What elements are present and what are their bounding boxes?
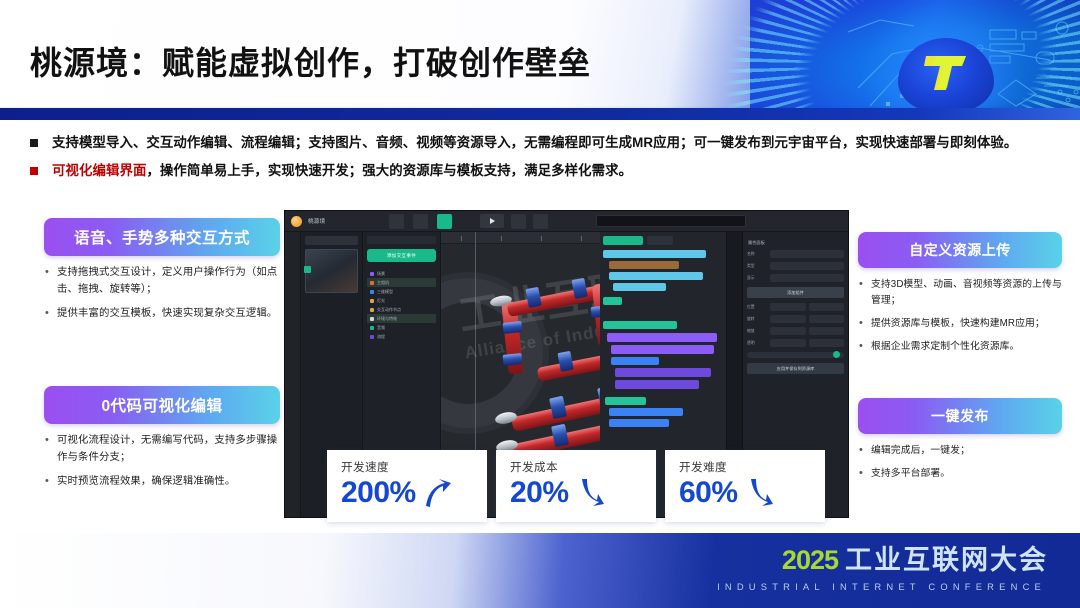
- callout-list-upload: 支持3D模型、动画、音视频等资源的上传与管理； 提供资源库与模板，快速构建MR应…: [858, 277, 1062, 354]
- toolbar-publish-button[interactable]: [511, 214, 526, 229]
- toolbar-tool-group[interactable]: [389, 214, 452, 229]
- outline-node[interactable]: 音频: [367, 323, 436, 332]
- callout-card-voice: 语音、手势多种交互方式 支持拖拽式交互设计，定义用户操作行为（如点击、拖拽、旋转…: [44, 218, 280, 330]
- callout-item: 支持多平台部署。: [858, 466, 1062, 482]
- script-block[interactable]: [609, 272, 703, 280]
- metric-value: 200%: [341, 476, 416, 510]
- property-row[interactable]: 旋转: [747, 315, 844, 323]
- property-row[interactable]: 透明: [747, 339, 844, 347]
- footer-year: 2025: [782, 545, 838, 576]
- slide-footer: 2025 工业互联网大会 INDUSTRIAL INTERNET CONFERE…: [0, 533, 1080, 608]
- script-block[interactable]: [603, 250, 706, 258]
- script-block[interactable]: [605, 397, 646, 405]
- callout-title-nocode: 0代码可视化编辑: [44, 386, 280, 424]
- page-title: 桃源境：赋能虚拟创作，打破创作壁垒: [30, 38, 591, 84]
- bullet-item-2: 可视化编辑界面，操作简单易上手，实现快速开发；强大的资源库与模板支持，满足多样化…: [30, 161, 1060, 180]
- callout-card-nocode: 0代码可视化编辑 可视化流程设计，无需编写代码，支持多步骤操作与条件分支； 实时…: [44, 386, 280, 498]
- script-block[interactable]: [613, 283, 666, 291]
- toolbar-settings-button[interactable]: [533, 214, 548, 229]
- conference-logo: 2025 工业互联网大会 INDUSTRIAL INTERNET CONFERE…: [717, 538, 1048, 592]
- slide: 桃源境：赋能虚拟创作，打破创作壁垒 支持模型导入、交互动作编辑、流程编辑；支持图…: [0, 0, 1080, 608]
- bullet-text-2: 可视化编辑界面，操作简单易上手，实现快速开发；强大的资源库与模板支持，满足多样化…: [52, 161, 632, 180]
- callout-item: 实时预览流程效果，确保逻辑准确性。: [44, 474, 280, 491]
- properties-panel-title: 属性面板: [748, 240, 844, 246]
- callout-item: 支持3D模型、动画、音视频等资源的上传与管理；: [858, 277, 1062, 309]
- script-block[interactable]: [611, 345, 714, 354]
- outline-node[interactable]: 场景: [367, 269, 436, 278]
- callout-list-nocode: 可视化流程设计，无需编写代码，支持多步骤操作与条件分支； 实时预览流程效果，确保…: [44, 433, 280, 491]
- property-row[interactable]: 显示: [747, 274, 844, 282]
- toolbar-preview-button[interactable]: [480, 214, 504, 228]
- bullet-highlight: 可视化编辑界面: [52, 163, 146, 178]
- callout-item: 提供资源库与模板，快速构建MR应用；: [858, 316, 1062, 332]
- toolbar-play-group[interactable]: [480, 214, 548, 229]
- arrow-down-curved-icon: [575, 477, 605, 509]
- opacity-slider[interactable]: [747, 352, 844, 358]
- app-window-title: 桃源境: [308, 217, 325, 225]
- app-logo-icon: [291, 216, 302, 227]
- script-block[interactable]: [603, 297, 622, 305]
- editor-search-input[interactable]: [596, 215, 746, 227]
- script-block[interactable]: [615, 368, 711, 377]
- callout-list-voice: 支持拖拽式交互设计，定义用户操作行为（如点击、拖拽、旋转等）； 提供丰富的交互模…: [44, 265, 280, 323]
- bullet-item-1: 支持模型导入、交互动作编辑、流程编辑；支持图片、音频、视频等资源导入，无需编程即…: [30, 133, 1060, 152]
- script-block[interactable]: [609, 408, 683, 416]
- add-component-button[interactable]: 添加组件: [747, 287, 844, 298]
- script-block[interactable]: [609, 261, 679, 269]
- asset-thumbnail[interactable]: [305, 249, 358, 293]
- script-block[interactable]: [609, 419, 669, 427]
- bullet-list: 支持模型导入、交互动作编辑、流程编辑；支持图片、音频、视频等资源导入，无需编程即…: [30, 133, 1060, 190]
- asset-status-dot-icon: [304, 266, 311, 273]
- metric-card-cost: 开发成本 20%: [496, 450, 656, 522]
- metric-card-difficulty: 开发难度 60%: [665, 450, 825, 522]
- script-block[interactable]: [611, 357, 659, 365]
- callout-item: 提供丰富的交互模板，快速实现复杂交互逻辑。: [44, 306, 280, 323]
- script-block[interactable]: [615, 380, 699, 389]
- bullet-rest: ，操作简单易上手，实现快速开发；强大的资源库与模板支持，满足多样化需求。: [146, 163, 632, 178]
- asset-panel-tab[interactable]: [305, 236, 358, 245]
- metric-label: 开发成本: [510, 459, 644, 475]
- editor-activity-bar[interactable]: [285, 232, 301, 517]
- property-row[interactable]: 类型: [747, 262, 844, 270]
- outline-node[interactable]: 环境与特效: [367, 314, 436, 323]
- callout-card-upload: 自定义资源上传 支持3D模型、动画、音视频等资源的上传与管理； 提供资源库与模板…: [858, 232, 1062, 361]
- metric-value: 20%: [510, 476, 569, 510]
- metric-label: 开发难度: [679, 459, 813, 475]
- property-row[interactable]: 缩放: [747, 327, 844, 335]
- arrow-up-curved-icon: [422, 477, 452, 509]
- callout-item: 支持拖拽式交互设计，定义用户操作行为（如点击、拖拽、旋转等）；: [44, 265, 280, 299]
- metric-label: 开发速度: [341, 459, 475, 475]
- callout-item: 编辑完成后，一键发；: [858, 443, 1062, 459]
- callout-title-voice: 语音、手势多种交互方式: [44, 218, 280, 256]
- callout-item: 根据企业需求定制个性化资源库。: [858, 339, 1062, 355]
- outline-node[interactable]: 灯光: [367, 296, 436, 305]
- viewport-timeline-ruler[interactable]: [441, 232, 600, 244]
- header-accent-bar: [0, 108, 1080, 120]
- toolbar-scene-edit-button[interactable]: [437, 214, 452, 229]
- callout-title-publish: 一键发布: [858, 398, 1062, 434]
- toolbar-resource-button[interactable]: [413, 214, 428, 229]
- editor-toolbar[interactable]: 桃源境: [285, 211, 848, 232]
- arrow-down-curved-icon: [744, 477, 774, 509]
- footer-name-en: INDUSTRIAL INTERNET CONFERENCE: [717, 581, 1048, 592]
- bullet-square-red-icon: [30, 167, 38, 175]
- script-block[interactable]: [603, 321, 677, 329]
- metric-card-group: 开发速度 200% 开发成本 20% 开发难度 60%: [327, 450, 825, 522]
- script-block[interactable]: [607, 333, 717, 342]
- callout-title-upload: 自定义资源上传: [858, 232, 1062, 268]
- bullet-square-icon: [30, 139, 38, 147]
- header-tech-graphic: [750, 0, 1080, 120]
- outline-node[interactable]: 三维模型: [367, 287, 436, 296]
- pipe-3d-model[interactable]: [477, 266, 600, 481]
- blocks-tab-events[interactable]: [647, 236, 673, 245]
- header-t-logo-icon: [922, 50, 970, 94]
- callout-card-publish: 一键发布 编辑完成后，一键发； 支持多平台部署。: [858, 398, 1062, 489]
- outline-search-field[interactable]: [367, 236, 436, 244]
- slide-header: 桃源境：赋能虚拟创作，打破创作壁垒: [0, 0, 1080, 120]
- outline-node[interactable]: 流程: [367, 332, 436, 341]
- callout-item: 可视化流程设计，无需编写代码，支持多步骤操作与条件分支；: [44, 433, 280, 467]
- add-interaction-event-button[interactable]: 添加交互事件: [367, 249, 436, 262]
- save-to-library-button[interactable]: 应用并保存到资源库: [747, 363, 844, 374]
- property-row[interactable]: 位置: [747, 303, 844, 311]
- bullet-text-1: 支持模型导入、交互动作编辑、流程编辑；支持图片、音频、视频等资源导入，无需编程即…: [52, 133, 1017, 152]
- blocks-tabs[interactable]: [603, 236, 723, 245]
- blocks-tab-logic[interactable]: [603, 236, 643, 245]
- metric-card-speed: 开发速度 200%: [327, 450, 487, 522]
- outline-node[interactable]: 主相机: [367, 278, 436, 287]
- metric-value: 60%: [679, 476, 738, 510]
- outline-node[interactable]: 交互动作节点: [367, 305, 436, 314]
- property-row[interactable]: 名称: [747, 250, 844, 258]
- toolbar-import-model-button[interactable]: [389, 214, 404, 229]
- footer-name-cn: 工业互联网大会: [845, 538, 1048, 577]
- callout-list-publish: 编辑完成后，一键发； 支持多平台部署。: [858, 443, 1062, 482]
